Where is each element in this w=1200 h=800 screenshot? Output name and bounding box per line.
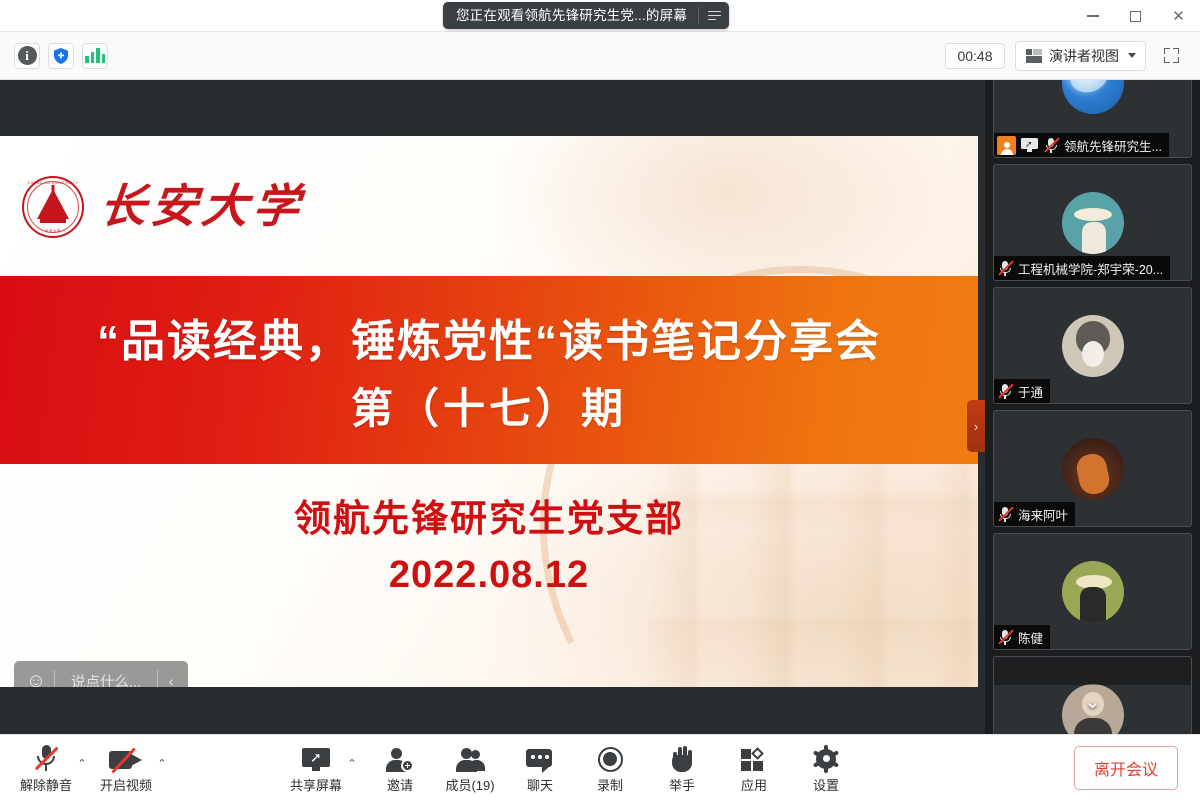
camera-off-icon bbox=[109, 742, 143, 772]
chat-bubble-icon bbox=[526, 742, 554, 772]
avatar bbox=[1062, 561, 1124, 623]
participant-rail[interactable]: ➚ 领航先锋研究生... 工程机械学院-郑宇荣-20... 于通 海来阿 bbox=[985, 80, 1200, 734]
shared-screen-stage[interactable]: CHANG AN UNIVERSITY 长安大学 长安大学 “品读经典，锤炼党性… bbox=[0, 80, 985, 734]
share-screen-label: 共享屏幕 bbox=[290, 775, 342, 794]
screen-share-menu-button[interactable] bbox=[699, 2, 729, 29]
university-seal-icon: CHANG AN UNIVERSITY 长安大学 bbox=[22, 176, 84, 238]
floating-chat-input[interactable]: ☺ 说点什么... ‹ bbox=[14, 661, 188, 687]
chat-input-placeholder[interactable]: 说点什么... bbox=[55, 671, 157, 688]
close-button[interactable]: ✕ bbox=[1157, 0, 1200, 32]
security-button[interactable] bbox=[48, 43, 74, 69]
smiley-icon[interactable]: ☺ bbox=[18, 661, 54, 687]
participant-namebar: 陈健 bbox=[994, 625, 1050, 649]
seal-bottom-text: 长安大学 bbox=[22, 228, 84, 233]
fullscreen-icon bbox=[1164, 48, 1179, 63]
mute-button[interactable]: 解除静音 bbox=[18, 738, 74, 798]
participant-name: 工程机械学院-郑宇荣-20... bbox=[1018, 259, 1163, 278]
chevron-up-icon: ⌃ bbox=[347, 757, 356, 770]
minimize-button[interactable] bbox=[1071, 0, 1114, 32]
slide-title-banner: “品读经典，锤炼党性“读书笔记分享会 第（十七）期 bbox=[0, 276, 978, 464]
banner-title-line2: 第（十七）期 bbox=[351, 375, 627, 436]
share-screen-icon: ➚ bbox=[302, 742, 330, 772]
apps-grid-icon bbox=[741, 742, 767, 772]
mute-button-label: 解除静音 bbox=[20, 775, 72, 794]
layout-icon bbox=[1026, 49, 1042, 63]
microphone-muted-icon bbox=[997, 383, 1013, 400]
apps-button[interactable]: 应用 bbox=[726, 738, 782, 798]
audio-options-caret[interactable]: ⌃ bbox=[74, 738, 90, 798]
hamburger-icon bbox=[708, 11, 721, 21]
participant-namebar: 于通 bbox=[994, 379, 1050, 403]
university-logo: CHANG AN UNIVERSITY 长安大学 长安大学 bbox=[22, 176, 304, 238]
banner-title-line1: “品读经典，锤炼党性“读书笔记分享会 bbox=[97, 305, 881, 369]
video-button-label: 开启视频 bbox=[100, 775, 152, 794]
avatar bbox=[1062, 438, 1124, 500]
participants-button[interactable]: 成员(19) bbox=[442, 738, 498, 798]
zoom-meeting-window: 您正在观看领航先锋研究生党...的屏幕 ✕ i 00:48 bbox=[0, 0, 1200, 800]
invite-label: 邀请 bbox=[387, 775, 413, 794]
chevron-down-icon bbox=[1128, 53, 1136, 58]
participant-name: 海来阿叶 bbox=[1018, 505, 1068, 524]
maximize-button[interactable] bbox=[1114, 0, 1157, 32]
avatar bbox=[1062, 80, 1124, 114]
chat-button[interactable]: 聊天 bbox=[512, 738, 568, 798]
chat-label: 聊天 bbox=[527, 775, 553, 794]
participant-tile[interactable]: 于通 bbox=[993, 287, 1192, 404]
screen-share-notice[interactable]: 您正在观看领航先锋研究生党...的屏幕 bbox=[443, 2, 729, 29]
gear-icon bbox=[813, 742, 839, 772]
video-button[interactable]: 开启视频 bbox=[98, 738, 154, 798]
screen-share-icon: ➚ bbox=[1021, 138, 1038, 152]
share-screen-button[interactable]: ➚ 共享屏幕 bbox=[288, 738, 344, 798]
microphone-muted-icon bbox=[1043, 137, 1059, 154]
settings-label: 设置 bbox=[813, 775, 839, 794]
info-icon: i bbox=[18, 46, 37, 65]
people-icon bbox=[455, 742, 485, 772]
view-mode-label: 演讲者视图 bbox=[1049, 46, 1119, 66]
maximize-icon bbox=[1130, 11, 1141, 22]
slide-date: 2022.08.12 bbox=[0, 554, 978, 597]
record-button[interactable]: 录制 bbox=[582, 738, 638, 798]
raise-hand-label: 举手 bbox=[669, 775, 695, 794]
participant-namebar: 工程机械学院-郑宇荣-20... bbox=[994, 256, 1170, 280]
host-badge bbox=[997, 136, 1016, 155]
chevron-left-icon[interactable]: ‹ bbox=[158, 661, 184, 687]
microphone-muted-icon bbox=[997, 629, 1013, 646]
participant-name: 领航先锋研究生... bbox=[1064, 136, 1162, 155]
share-options-caret[interactable]: ⌃ bbox=[344, 738, 360, 798]
video-options-caret[interactable]: ⌃ bbox=[154, 738, 170, 798]
participant-namebar: 海来阿叶 bbox=[994, 502, 1075, 526]
record-label: 录制 bbox=[597, 775, 623, 794]
microphone-muted-icon bbox=[33, 742, 59, 772]
fullscreen-button[interactable] bbox=[1156, 42, 1186, 70]
record-icon bbox=[598, 742, 623, 772]
leave-meeting-button[interactable]: 离开会议 bbox=[1074, 746, 1178, 790]
avatar bbox=[1062, 315, 1124, 377]
raised-hand-icon bbox=[670, 742, 694, 772]
minimize-icon bbox=[1087, 15, 1099, 16]
chevron-down-icon[interactable]: ⌄ bbox=[1084, 689, 1101, 714]
chevron-right-icon[interactable]: › bbox=[967, 400, 985, 452]
screen-share-notice-text: 您正在观看领航先锋研究生党...的屏幕 bbox=[443, 2, 698, 29]
participant-tile[interactable]: 海来阿叶 bbox=[993, 410, 1192, 527]
shield-icon bbox=[52, 47, 70, 65]
view-mode-selector[interactable]: 演讲者视图 bbox=[1015, 41, 1146, 71]
participant-tile[interactable]: 陈健 bbox=[993, 533, 1192, 650]
toolbar-right-group: 00:48 演讲者视图 bbox=[945, 41, 1186, 71]
chevron-up-icon: ⌃ bbox=[157, 757, 166, 770]
participants-label: 成员(19) bbox=[445, 775, 494, 794]
meeting-timer: 00:48 bbox=[945, 43, 1005, 69]
chevron-up-icon: ⌃ bbox=[77, 757, 86, 770]
participant-name: 于通 bbox=[1018, 382, 1043, 401]
meeting-toolbar: i 00:48 演讲者视图 bbox=[0, 32, 1200, 80]
window-controls: ✕ bbox=[1071, 0, 1200, 32]
close-icon: ✕ bbox=[1172, 9, 1185, 24]
avatar bbox=[1062, 192, 1124, 254]
participant-namebar: ➚ 领航先锋研究生... bbox=[994, 133, 1169, 157]
seal-top-text: CHANG AN UNIVERSITY bbox=[22, 181, 84, 185]
raise-hand-button[interactable]: 举手 bbox=[654, 738, 710, 798]
invite-button[interactable]: 邀请 bbox=[372, 738, 428, 798]
microphone-muted-icon bbox=[997, 260, 1013, 277]
slide-organization: 领航先锋研究生党支部 bbox=[0, 488, 978, 542]
presentation-slide: CHANG AN UNIVERSITY 长安大学 长安大学 “品读经典，锤炼党性… bbox=[0, 136, 978, 687]
network-quality-button[interactable] bbox=[82, 43, 108, 69]
participant-tile[interactable]: 工程机械学院-郑宇荣-20... bbox=[993, 164, 1192, 281]
meeting-info-button[interactable]: i bbox=[14, 43, 40, 69]
participant-name: 陈健 bbox=[1018, 628, 1043, 647]
microphone-muted-icon bbox=[997, 506, 1013, 523]
signal-bars-icon bbox=[85, 48, 105, 63]
meeting-controls-bar: 解除静音 ⌃ 开启视频 ⌃ ➚ 共享屏幕 ⌃ bbox=[0, 734, 1200, 800]
participant-tile[interactable]: ⌄ bbox=[993, 656, 1192, 734]
title-bar: 您正在观看领航先锋研究生党...的屏幕 ✕ bbox=[0, 0, 1200, 32]
audio-control-group: 解除静音 ⌃ bbox=[0, 738, 90, 798]
video-control-group: 开启视频 ⌃ bbox=[90, 738, 170, 798]
apps-label: 应用 bbox=[741, 775, 767, 794]
participant-tile[interactable]: ➚ 领航先锋研究生... bbox=[993, 80, 1192, 158]
university-name: 长安大学 bbox=[98, 184, 307, 230]
share-control-group: ➚ 共享屏幕 ⌃ bbox=[288, 738, 360, 798]
settings-button[interactable]: 设置 bbox=[798, 738, 854, 798]
add-person-icon bbox=[386, 742, 414, 772]
